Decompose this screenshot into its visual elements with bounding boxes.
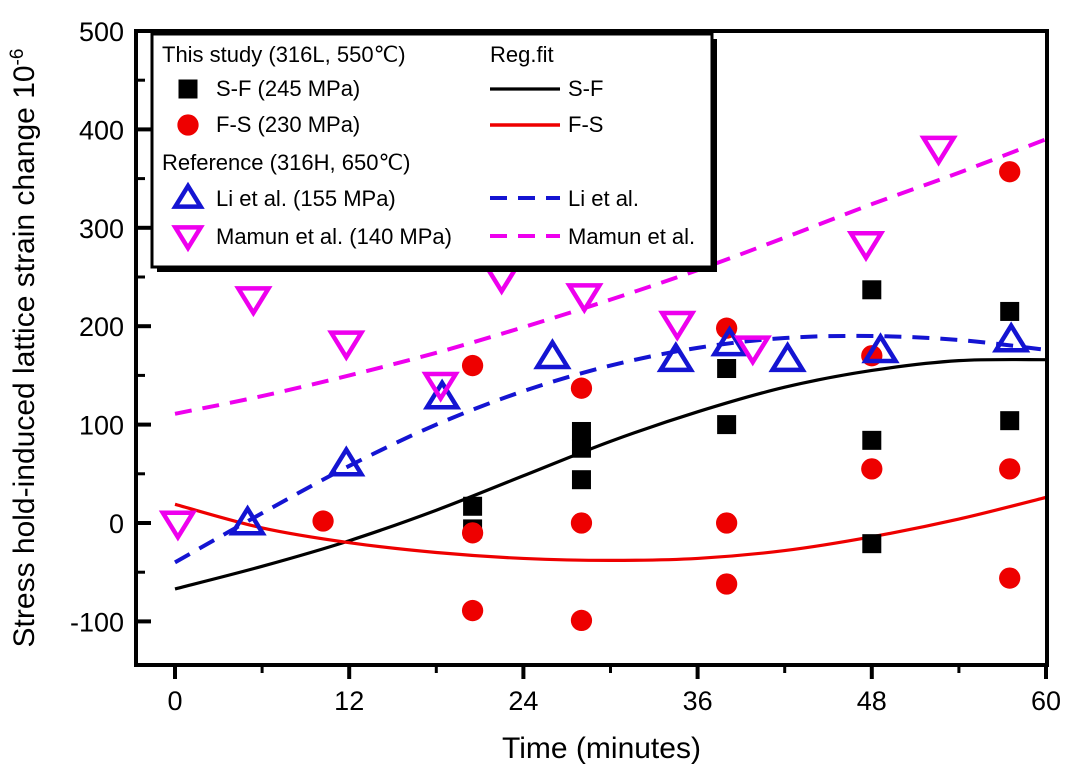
point-circle — [462, 600, 483, 621]
x-tick-label: 36 — [683, 686, 713, 716]
point-circle — [861, 458, 882, 479]
x-tick-label: 48 — [857, 686, 887, 716]
point-square — [862, 431, 881, 450]
legend-label-sf: S-F (245 MPa) — [216, 76, 360, 101]
point-triangle-down — [923, 138, 953, 163]
point-triangle-up — [661, 345, 691, 370]
point-circle — [716, 573, 737, 594]
point-square — [1000, 302, 1019, 321]
legend-marker-circle — [177, 114, 198, 135]
point-triangle-up — [772, 345, 802, 370]
x-tick-label: 12 — [334, 686, 364, 716]
point-triangle-up — [537, 342, 567, 367]
point-square — [572, 470, 591, 489]
legend-fitlabel-mamun: Mamun et al. — [568, 224, 695, 249]
y-tick-label: -100 — [70, 607, 124, 637]
legend-box: This study (316L, 550℃)Reg.fitS-F (245 M… — [152, 34, 717, 272]
point-circle — [571, 610, 592, 631]
point-triangle-down — [331, 333, 361, 358]
y-tick-label: 100 — [79, 411, 124, 441]
y-tick-label: 300 — [79, 214, 124, 244]
point-circle — [312, 510, 333, 531]
point-circle — [571, 378, 592, 399]
point-circle — [462, 522, 483, 543]
legend-fitlabel-sf: S-F — [568, 76, 603, 101]
point-circle — [462, 355, 483, 376]
y-tick-label: 400 — [79, 115, 124, 145]
point-circle — [999, 567, 1020, 588]
y-axis-title-exponent: -6 — [7, 49, 28, 66]
legend-marker-square — [179, 80, 198, 99]
legend-fit-title: Reg.fit — [490, 42, 554, 67]
legend-label-mamun: Mamun et al. (140 MPa) — [216, 224, 452, 249]
point-triangle-down — [851, 233, 881, 258]
point-circle — [999, 161, 1020, 182]
point-square — [862, 280, 881, 299]
chart-svg: -100010020030040050001224364860 Time (mi… — [0, 0, 1080, 775]
point-circle — [571, 512, 592, 533]
fit-curve-f-s — [175, 497, 1046, 560]
legend-group-title-this-study: This study (316L, 550℃) — [162, 42, 406, 67]
point-triangle-down — [238, 288, 268, 313]
point-square — [717, 359, 736, 378]
point-square — [717, 415, 736, 434]
point-square — [572, 439, 591, 458]
point-triangle-down — [163, 513, 193, 538]
point-square — [463, 497, 482, 516]
fit-curve-s-f — [175, 360, 1046, 589]
point-square — [572, 422, 591, 441]
point-circle — [716, 512, 737, 533]
legend-fitlabel-li: Li et al. — [568, 186, 639, 211]
x-tick-label: 60 — [1031, 686, 1061, 716]
legend-label-fs: F-S (230 MPa) — [216, 112, 360, 137]
x-tick-label: 0 — [167, 686, 182, 716]
figure-container: -100010020030040050001224364860 Time (mi… — [0, 0, 1080, 775]
y-tick-label: 500 — [79, 17, 124, 47]
y-axis-title: Stress hold-induced lattice strain chang… — [7, 49, 41, 648]
legend-fitlabel-fs: F-S — [568, 112, 603, 137]
point-square — [862, 534, 881, 553]
y-tick-label: 0 — [109, 509, 124, 539]
point-circle — [999, 458, 1020, 479]
legend-group-title-reference: Reference (316H, 650℃) — [162, 150, 411, 175]
legend-label-li: Li et al. (155 MPa) — [216, 186, 396, 211]
point-square — [1000, 411, 1019, 430]
x-axis-title: Time (minutes) — [502, 732, 701, 765]
y-tick-label: 200 — [79, 312, 124, 342]
point-triangle-down — [662, 313, 692, 338]
x-tick-label: 24 — [508, 686, 538, 716]
y-axis-title-main: Stress hold-induced lattice strain chang… — [8, 65, 41, 647]
